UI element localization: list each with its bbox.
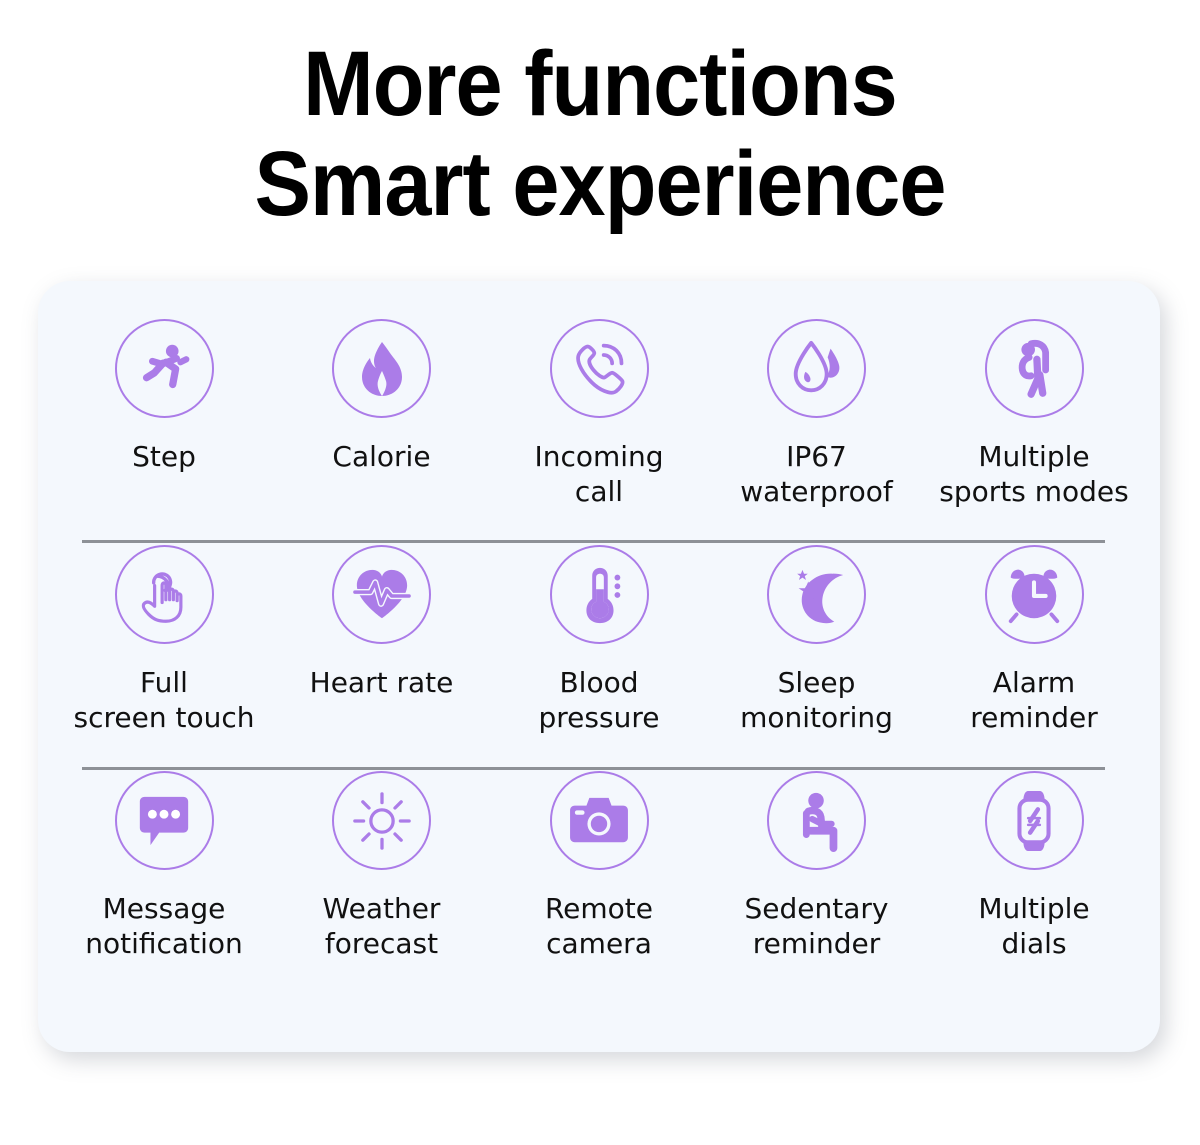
thermometer-icon [550,545,649,644]
feature-label: Message notification [85,891,242,961]
message-bubble-icon [115,771,214,870]
feature-label: Incoming call [534,439,663,509]
feature-cell-remote-camera[interactable]: Remote camera [495,771,703,961]
feature-cell-step[interactable]: Step [60,319,268,474]
feature-label: Remote camera [545,891,653,961]
feature-card: Step Calorie [38,281,1160,1052]
feature-row-1: Step Calorie [38,319,1160,509]
alarm-clock-icon [985,545,1084,644]
page-title-line-2: Smart experience [48,134,1152,234]
smartwatch-icon [985,771,1084,870]
running-person-icon [115,319,214,418]
water-drop-icon [767,319,866,418]
phone-call-icon [550,319,649,418]
page-title-line-1: More functions [48,34,1152,134]
sun-icon [332,771,431,870]
seated-person-icon [767,771,866,870]
feature-label: Sleep monitoring [740,665,893,735]
feature-cell-message-notification[interactable]: Message notification [60,771,268,961]
stretching-person-icon [985,319,1084,418]
feature-row-2: Full screen touch Heart rate [38,545,1160,735]
moon-stars-icon [767,545,866,644]
feature-cell-sleep-monitoring[interactable]: Sleep monitoring [713,545,921,735]
heart-pulse-icon [332,545,431,644]
flame-icon [332,319,431,418]
feature-label: IP67 waterproof [740,439,893,509]
feature-cell-multiple-dials[interactable]: Multiple dials [930,771,1138,961]
feature-label: Step [132,439,196,474]
feature-cell-full-screen-touch[interactable]: Full screen touch [60,545,268,735]
feature-cell-sedentary-reminder[interactable]: Sedentary reminder [713,771,921,961]
feature-label: Weather forecast [323,891,441,961]
feature-cell-calorie[interactable]: Calorie [278,319,486,474]
feature-label: Calorie [332,439,430,474]
feature-cell-waterproof[interactable]: IP67 waterproof [713,319,921,509]
feature-cell-alarm-reminder[interactable]: Alarm reminder [930,545,1138,735]
feature-cell-blood-pressure[interactable]: Blood pressure [495,545,703,735]
feature-label: Sedentary reminder [745,891,889,961]
camera-icon [550,771,649,870]
feature-label: Alarm reminder [970,665,1097,735]
feature-label: Multiple dials [978,891,1089,961]
feature-cell-weather-forecast[interactable]: Weather forecast [278,771,486,961]
feature-label: Heart rate [310,665,454,700]
feature-row-3: Message notification [38,771,1160,961]
feature-label: Full screen touch [74,665,255,735]
feature-label: Blood pressure [539,665,660,735]
tap-hand-icon [115,545,214,644]
feature-cell-sports-modes[interactable]: Multiple sports modes [930,319,1138,509]
feature-cell-heart-rate[interactable]: Heart rate [278,545,486,700]
feature-label: Multiple sports modes [939,439,1128,509]
feature-grid: Step Calorie [38,281,1160,1052]
feature-highlight-page: More functions Smart experience [0,0,1200,1145]
page-title: More functions Smart experience [48,34,1152,234]
feature-cell-incoming-call[interactable]: Incoming call [495,319,703,509]
